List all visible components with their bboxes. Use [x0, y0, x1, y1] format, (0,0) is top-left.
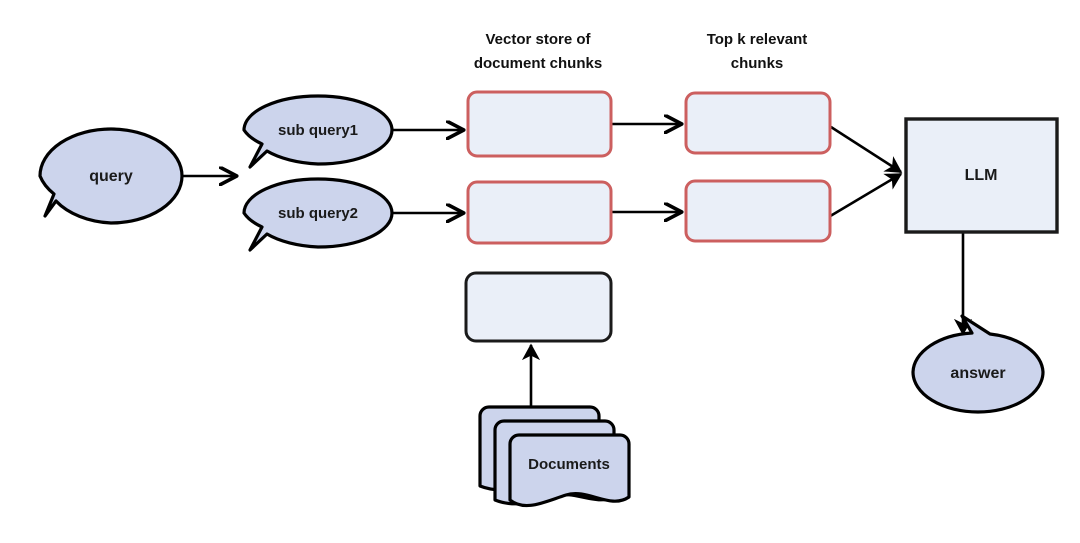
node-vector-chunk-3[interactable]	[466, 273, 611, 341]
top-k-heading-line2: chunks	[731, 55, 784, 72]
top-chunk-2-box	[686, 181, 830, 241]
answer-label: answer	[950, 365, 1005, 382]
answer-bubble-shape	[913, 316, 1043, 412]
sub-query-2-label: sub query2	[278, 205, 358, 222]
node-vector-chunk-1[interactable]	[468, 92, 611, 156]
node-documents[interactable]: Documents	[480, 407, 629, 506]
top-k-heading: Top k relevant chunks	[707, 31, 808, 72]
query-label: query	[89, 168, 133, 185]
vector-store-heading: Vector store of document chunks	[474, 31, 602, 72]
vector-chunk-1-box	[468, 92, 611, 156]
node-sub-query-1[interactable]: sub query1	[244, 96, 392, 167]
node-top-chunk-1[interactable]	[686, 93, 830, 153]
node-top-chunk-2[interactable]	[686, 181, 830, 241]
top-chunk-1-box	[686, 93, 830, 153]
diagram-canvas-container: Vector store of document chunks Top k re…	[0, 0, 1080, 543]
node-answer[interactable]: answer	[913, 316, 1043, 412]
node-query[interactable]: query	[40, 129, 182, 223]
llm-label: LLM	[965, 167, 998, 184]
top-k-heading-line1: Top k relevant	[707, 31, 808, 48]
edge-top-chunk2-to-llm	[827, 174, 901, 218]
node-llm[interactable]: LLM	[906, 119, 1057, 232]
node-sub-query-2[interactable]: sub query2	[244, 179, 392, 250]
documents-label: Documents	[528, 456, 610, 473]
node-vector-chunk-2[interactable]	[468, 182, 611, 243]
edge-top-chunk1-to-llm	[831, 127, 901, 172]
vector-store-heading-line2: document chunks	[474, 55, 602, 72]
vector-chunk-3-box	[466, 273, 611, 341]
rag-flow-diagram: Vector store of document chunks Top k re…	[0, 0, 1080, 543]
vector-store-heading-line1: Vector store of	[485, 31, 591, 48]
vector-chunk-2-box	[468, 182, 611, 243]
sub-query-1-label: sub query1	[278, 122, 358, 139]
